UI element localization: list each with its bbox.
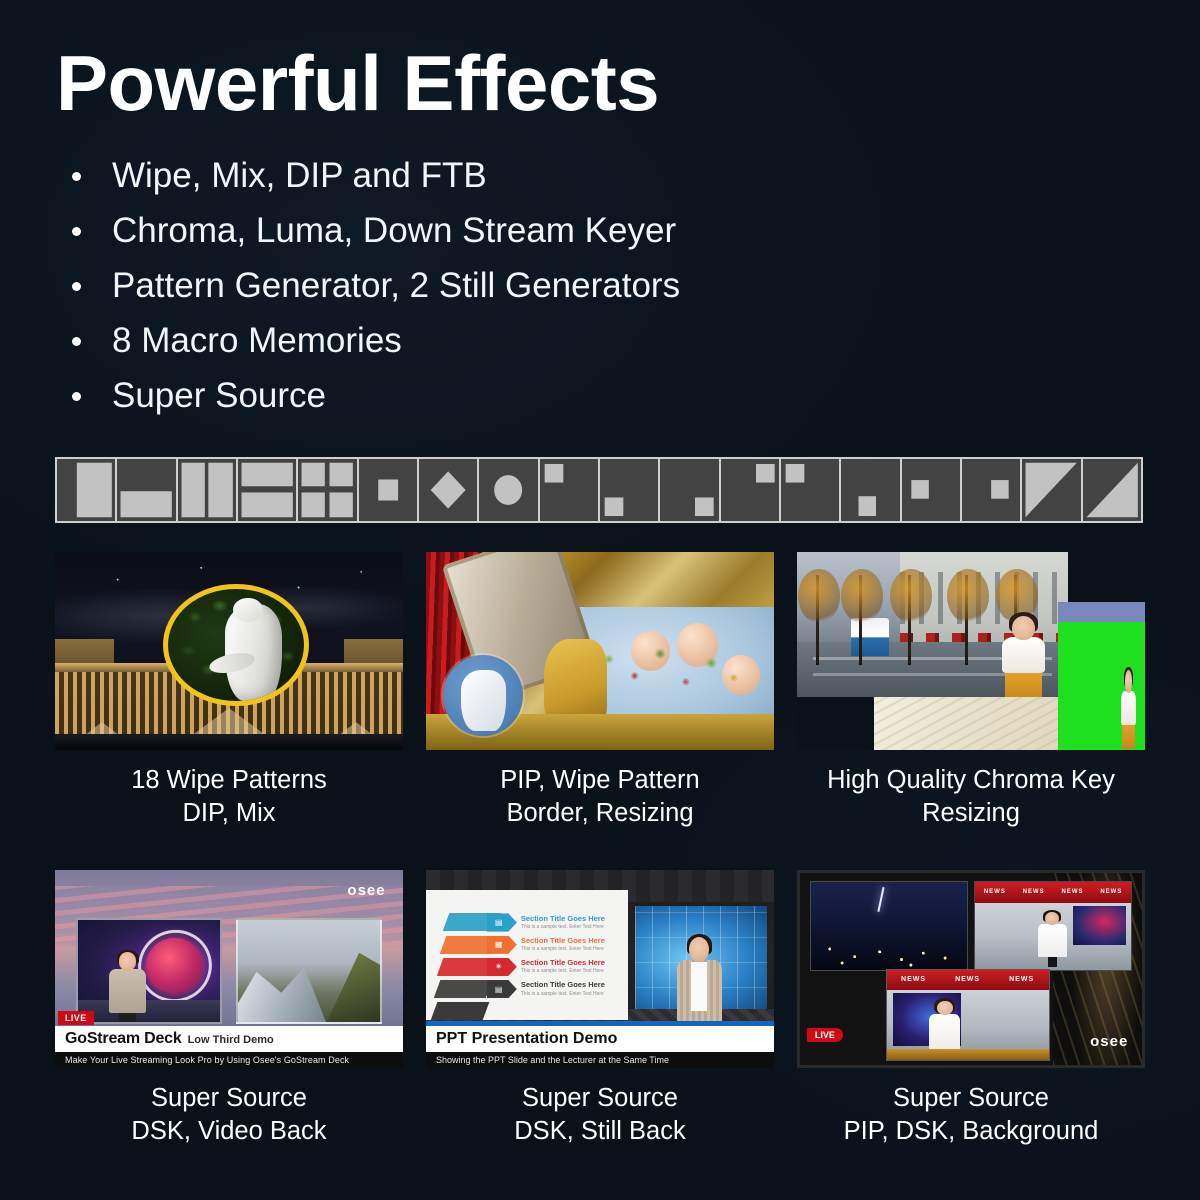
bullet-text: Wipe, Mix, DIP and FTB: [112, 156, 487, 195]
ppt-section-tag: [434, 980, 493, 998]
lecturer-head: [689, 937, 709, 962]
ppt-section-title: Section Title Goes Here: [521, 981, 626, 989]
news-band-text: NEWS: [984, 889, 1006, 895]
news-band-text: NEWS: [901, 976, 926, 983]
grid-row-top: 18 Wipe Patterns DIP, Mix: [55, 552, 1145, 830]
ppt-lower-third-strip: Showing the PPT Slide and the Lecturer a…: [426, 1052, 774, 1068]
lower-third-subtitle: Low Third Demo: [188, 1034, 274, 1046]
list-item: Super Source: [60, 368, 960, 423]
presenter-skirt: [1122, 722, 1135, 748]
news-band-text: NEWS: [1062, 889, 1084, 895]
green-screen-top-band: [1058, 602, 1145, 623]
wipe-pattern-two-vertical-bars[interactable]: [178, 459, 238, 521]
wipe-pattern-diagonal-lower-right[interactable]: [1083, 459, 1141, 521]
keyed-presenter: [998, 616, 1050, 697]
pip-statue: [461, 670, 506, 732]
tree: [965, 575, 968, 665]
wipe-pattern-center-box[interactable]: [359, 459, 419, 521]
ppt-section-body: This is a sample text. Enter Text Here: [521, 968, 626, 974]
lower-third-title: GoStream Deck: [65, 1030, 182, 1048]
card-supersource-still-back: ▤Section Title Goes HereThis is a sample…: [426, 870, 774, 1148]
news-band-text: NEWS: [1023, 889, 1045, 895]
chart-icon: ▤: [489, 916, 509, 929]
gear-icon: ✷: [489, 960, 509, 973]
lower-third-main: GoStream Deck Low Third Demo: [55, 1026, 403, 1052]
page-title: Powerful Effects: [56, 44, 659, 122]
card-wipe-dip-mix: 18 Wipe Patterns DIP, Mix: [55, 552, 403, 830]
ppt-section-title: Section Title Goes Here: [521, 937, 626, 945]
bullet-dot-icon: [72, 172, 81, 181]
osee-logo: osee: [347, 882, 385, 899]
card-chroma-key: High Quality Chroma Key Resizing: [797, 552, 1145, 830]
anchor-head: [937, 1001, 953, 1015]
news-multiview-thumbnail: NEWS NEWS NEWS NEWS: [797, 870, 1145, 1068]
gilded-ceiling-pip-thumbnail: [426, 552, 774, 750]
news-band-text: NEWS: [1100, 889, 1122, 895]
ppt-lower-third-title: PPT Presentation Demo: [436, 1030, 617, 1047]
card-caption: 18 Wipe Patterns DIP, Mix: [55, 764, 403, 830]
wipe-pattern-box-center-right[interactable]: [962, 459, 1022, 521]
ppt-section-text: Section Title Goes HereThis is a sample …: [521, 981, 626, 996]
bullet-text: Super Source: [112, 376, 326, 415]
card-caption: Super Source PIP, DSK, Background: [797, 1082, 1145, 1148]
card-caption: Super Source DSK, Video Back: [55, 1082, 403, 1148]
anchor-pants: [1048, 955, 1057, 967]
grid-row-bottom: osee: [55, 870, 1145, 1148]
studio-screen: [1073, 906, 1126, 945]
ppt-section-tag: [431, 1002, 490, 1020]
tree: [816, 575, 819, 665]
presenter-on-green: [1120, 670, 1137, 747]
ppt-slide: ▤Section Title Goes HereThis is a sample…: [426, 890, 628, 1021]
wipe-pattern-box-bottom-right[interactable]: [660, 459, 720, 521]
news-band: NEWS NEWS NEWS: [887, 970, 1049, 990]
anchor-shirt: [929, 1014, 960, 1051]
news-studio-source-b: NEWS NEWS NEWS: [886, 969, 1050, 1061]
wipe-pattern-box-bottom-center-left[interactable]: [841, 459, 901, 521]
foreground-ground: [55, 734, 403, 750]
ppt-section-text: Section Title Goes HereThis is a sample …: [521, 915, 626, 930]
news-band-text: NEWS: [1009, 976, 1034, 983]
night-cityscape-source: [810, 881, 967, 971]
wipe-pattern-diamond[interactable]: [419, 459, 479, 521]
bullet-dot-icon: [72, 337, 81, 346]
ppt-section-body: This is a sample text. Enter Text Here: [521, 924, 626, 930]
tree: [908, 575, 911, 665]
live-badge: LIVE: [807, 1028, 843, 1042]
chroma-key-greenscreen-thumbnail: [797, 552, 1145, 750]
feature-bullet-list: Wipe, Mix, DIP and FTB Chroma, Luma, Dow…: [60, 148, 960, 423]
presenter-top: [1121, 691, 1136, 725]
lecturer-shirt: [691, 962, 707, 1011]
example-grid: 18 Wipe Patterns DIP, Mix: [55, 552, 1145, 1148]
fruit-garland: [593, 639, 753, 706]
anchor-desk: [887, 1049, 1049, 1060]
wipe-pattern-circle[interactable]: [479, 459, 539, 521]
bullet-dot-icon: [72, 392, 81, 401]
bullet-text: 8 Macro Memories: [112, 321, 402, 360]
wipe-pattern-box-top-left-corner[interactable]: [781, 459, 841, 521]
street-background-photo: [797, 552, 1068, 697]
wipe-pattern-horizontal-bottom-band[interactable]: [117, 459, 177, 521]
tree: [859, 575, 862, 665]
card-supersource-pip-dsk-bg: NEWS NEWS NEWS NEWS: [797, 870, 1145, 1148]
lightning-bolt: [877, 887, 884, 912]
presenter-head: [1012, 616, 1035, 640]
wipe-pattern-horizontal-split[interactable]: [238, 459, 298, 521]
tram-vehicle: [851, 618, 889, 656]
ppt-section-title: Section Title Goes Here: [521, 915, 626, 923]
wipe-pattern-diagonal-upper-left[interactable]: [1022, 459, 1082, 521]
circular-pip-overlay: [443, 655, 523, 736]
list-item: Chroma, Luma, Down Stream Keyer: [60, 203, 960, 258]
ppt-section-title: Section Title Goes Here: [521, 959, 626, 967]
lower-third-overlay: LIVE GoStream Deck Low Third Demo Make Y…: [55, 1008, 403, 1068]
presenter-head: [119, 952, 137, 970]
ppt-section-text: Section Title Goes HereThis is a sample …: [521, 959, 626, 974]
bullet-dot-icon: [72, 227, 81, 236]
osee-logo: osee: [1090, 1033, 1128, 1050]
news-band: NEWS NEWS NEWS NEWS: [975, 882, 1130, 903]
wipe-pattern-vertical-split-right[interactable]: [57, 459, 117, 521]
ppt-section-text: Section Title Goes HereThis is a sample …: [521, 937, 626, 952]
card-caption: Super Source DSK, Still Back: [426, 1082, 774, 1148]
news-anchor-male: [1038, 912, 1068, 967]
bullet-text: Pattern Generator, 2 Still Generators: [112, 266, 680, 305]
card-caption: High Quality Chroma Key Resizing: [797, 764, 1145, 830]
wipe-pattern-box-bottom-left[interactable]: [600, 459, 660, 521]
wipe-pattern-box-center-left[interactable]: [902, 459, 962, 521]
document-icon: ▤: [489, 983, 509, 996]
report-icon: ▦: [489, 938, 509, 951]
ppt-section-body: This is a sample text. Enter Text Here: [521, 946, 626, 952]
wipe-pattern-box-top-right[interactable]: [721, 459, 781, 521]
studio-lower-third-thumbnail: osee: [55, 870, 403, 1068]
ppt-lower-third-overlay: PPT Presentation Demo Showing the PPT Sl…: [426, 1021, 774, 1068]
presenter-head: [1125, 670, 1133, 693]
still-sand-source: [874, 697, 1058, 750]
news-multiview-composite: NEWS NEWS NEWS NEWS: [797, 870, 1145, 1068]
card-supersource-video-back: osee: [55, 870, 403, 1148]
slide-root: Powerful Effects Wipe, Mix, DIP and FTB …: [0, 0, 1200, 1200]
chroma-composite: [797, 552, 1145, 750]
ppt-lower-third-main: PPT Presentation Demo: [426, 1026, 774, 1052]
lower-third-strip: Make Your Live Streaming Look Pro by Usi…: [55, 1052, 403, 1068]
presenter-skirt: [1005, 671, 1042, 697]
list-item: 8 Macro Memories: [60, 313, 960, 368]
bullet-dot-icon: [72, 282, 81, 291]
ppt-section-body: This is a sample text. Enter Text Here: [521, 991, 626, 997]
news-band-text: NEWS: [955, 976, 980, 983]
louvre-ellipse-wipe-thumbnail: [55, 552, 403, 750]
live-badge: LIVE: [58, 1011, 94, 1025]
anchor-shirt: [1038, 924, 1068, 957]
presenter-coat: [109, 969, 146, 1012]
ppt-presentation-thumbnail: ▤Section Title Goes HereThis is a sample…: [426, 870, 774, 1068]
list-item: Wipe, Mix, DIP and FTB: [60, 148, 960, 203]
wipe-pattern-box-top-left[interactable]: [540, 459, 600, 521]
presenter-top: [1002, 637, 1045, 673]
bullet-text: Chroma, Luma, Down Stream Keyer: [112, 211, 676, 250]
news-studio-source-a: NEWS NEWS NEWS NEWS: [974, 881, 1131, 971]
list-item: Pattern Generator, 2 Still Generators: [60, 258, 960, 313]
card-pip-wipe-border: PIP, Wipe Pattern Border, Resizing: [426, 552, 774, 830]
green-screen-source: [1058, 602, 1145, 751]
ellipse-wipe-overlay: [163, 584, 309, 707]
wipe-pattern-four-quadrant[interactable]: [298, 459, 358, 521]
wipe-pattern-strip: [55, 457, 1143, 523]
card-caption: PIP, Wipe Pattern Border, Resizing: [426, 764, 774, 830]
